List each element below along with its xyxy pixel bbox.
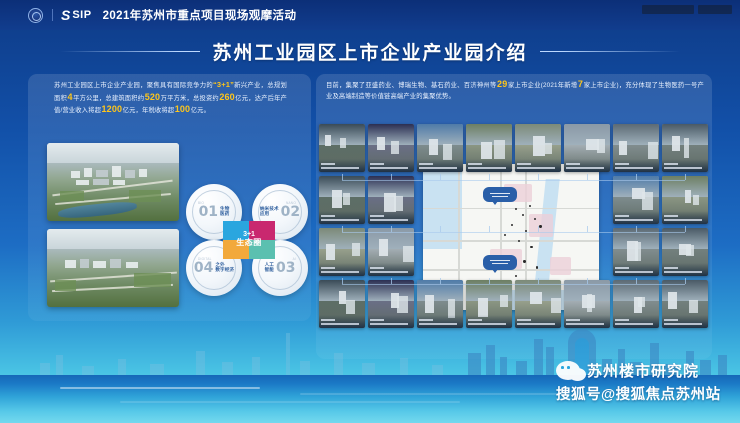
photo-caption xyxy=(662,159,708,172)
connector-line xyxy=(685,278,686,284)
photo-caption xyxy=(319,211,365,224)
enterprise-photo-cell[interactable] xyxy=(662,228,708,276)
eco-item-04-number: 04 xyxy=(194,261,213,275)
enterprise-photo-cell[interactable] xyxy=(662,124,708,172)
map-tag-south[interactable] xyxy=(483,255,517,270)
eco-item-01-label: 生物 医药 xyxy=(220,207,229,216)
event-title: 2021年苏州市重点项目现场观摩活动 xyxy=(103,7,297,23)
watermark-account-name: 苏州楼市研究院 xyxy=(587,360,699,381)
eco-item-02-number: 02 xyxy=(281,205,300,219)
main-title-bar: 苏州工业园区上市企业产业园介绍 xyxy=(0,38,740,64)
eco-core-bottom-label: 生态圈 xyxy=(236,238,262,248)
enterprise-photo-cell[interactable] xyxy=(319,176,365,224)
slide-canvas: S SIP 2021年苏州市重点项目现场观摩活动 苏州工业园区上市企业产业园介绍… xyxy=(0,0,740,423)
enterprise-photo-cell[interactable] xyxy=(368,176,414,224)
sip-logo-text: SIP xyxy=(72,9,91,21)
map-tag-north[interactable] xyxy=(483,187,517,202)
aerial-render-top xyxy=(47,143,179,221)
enterprise-photo-cell[interactable] xyxy=(662,176,708,224)
photo-caption xyxy=(662,211,708,224)
enterprise-photo-cell[interactable] xyxy=(613,124,659,172)
enterprise-photo-cell[interactable] xyxy=(564,124,610,172)
photo-caption xyxy=(515,159,561,172)
eco-core: 3+1 生态圈 xyxy=(223,221,275,259)
wechat-icon xyxy=(556,361,580,380)
eco-item-01-number: 01 xyxy=(199,205,218,219)
photo-caption xyxy=(662,263,708,276)
connector-line xyxy=(342,232,685,233)
enterprise-photo-cell[interactable] xyxy=(368,124,414,172)
photo-caption xyxy=(368,263,414,276)
sip-government-emblem-icon xyxy=(28,8,43,23)
screenshot-toolbar-artifact xyxy=(642,5,732,14)
connector-line xyxy=(685,174,686,180)
enterprise-photo-cell[interactable] xyxy=(319,228,365,276)
watermark-account: 苏州楼市研究院 xyxy=(556,360,699,381)
aerial-render-bottom xyxy=(47,229,179,307)
left-description-text: 苏州工业园区上市企业产业园，聚焦具有国际竞争力的“3+1”新兴产业，总规划面积4… xyxy=(54,79,287,117)
enterprise-photo-cell[interactable] xyxy=(613,176,659,224)
photo-caption xyxy=(368,211,414,224)
photo-caption xyxy=(368,159,414,172)
photo-caption xyxy=(564,159,610,172)
sip-logo-mark: S xyxy=(61,8,70,22)
photo-caption xyxy=(613,211,659,224)
photo-caption xyxy=(466,159,512,172)
connector-line xyxy=(685,226,686,232)
eco-item-02-label: 纳米技术 应用 xyxy=(260,207,279,216)
eco-item-03-label: 人工 智能 xyxy=(265,263,274,272)
title-rule-right xyxy=(540,51,680,52)
photo-caption xyxy=(319,263,365,276)
eco-item-04-label: 之外 数字经济 xyxy=(215,263,234,272)
top-bar: S SIP 2021年苏州市重点项目现场观摩活动 xyxy=(0,0,740,30)
enterprise-photo-cell[interactable] xyxy=(466,124,512,172)
eco-item-03-number: 03 xyxy=(276,261,295,275)
photo-caption xyxy=(417,159,463,172)
enterprise-photo-cell[interactable] xyxy=(417,124,463,172)
enterprise-photo-cell[interactable] xyxy=(515,124,561,172)
page-title: 苏州工业园区上市企业产业园介绍 xyxy=(212,38,527,65)
photo-caption xyxy=(613,159,659,172)
divider xyxy=(52,9,53,21)
enterprise-photo-cell[interactable] xyxy=(319,124,365,172)
photo-caption xyxy=(613,263,659,276)
photo-caption xyxy=(319,159,365,172)
right-description-text: 目前，集聚了亚盛药业、博瑞生物、基石药业、百济神州等29家上市企业(2021年新… xyxy=(326,79,704,103)
enterprise-photo-cell[interactable] xyxy=(613,228,659,276)
title-rule-left xyxy=(60,51,200,52)
sip-logo: S SIP xyxy=(61,8,92,22)
watermark-platform: 搜狐号@搜狐焦点苏州站 xyxy=(556,383,721,404)
connector-line xyxy=(342,284,685,285)
ecosystem-diagram: 01 生物 医药 BIO 纳米技术 应用 02 NANO 04 xyxy=(186,184,312,296)
connector-line xyxy=(342,180,685,181)
enterprise-photo-cell[interactable] xyxy=(368,228,414,276)
